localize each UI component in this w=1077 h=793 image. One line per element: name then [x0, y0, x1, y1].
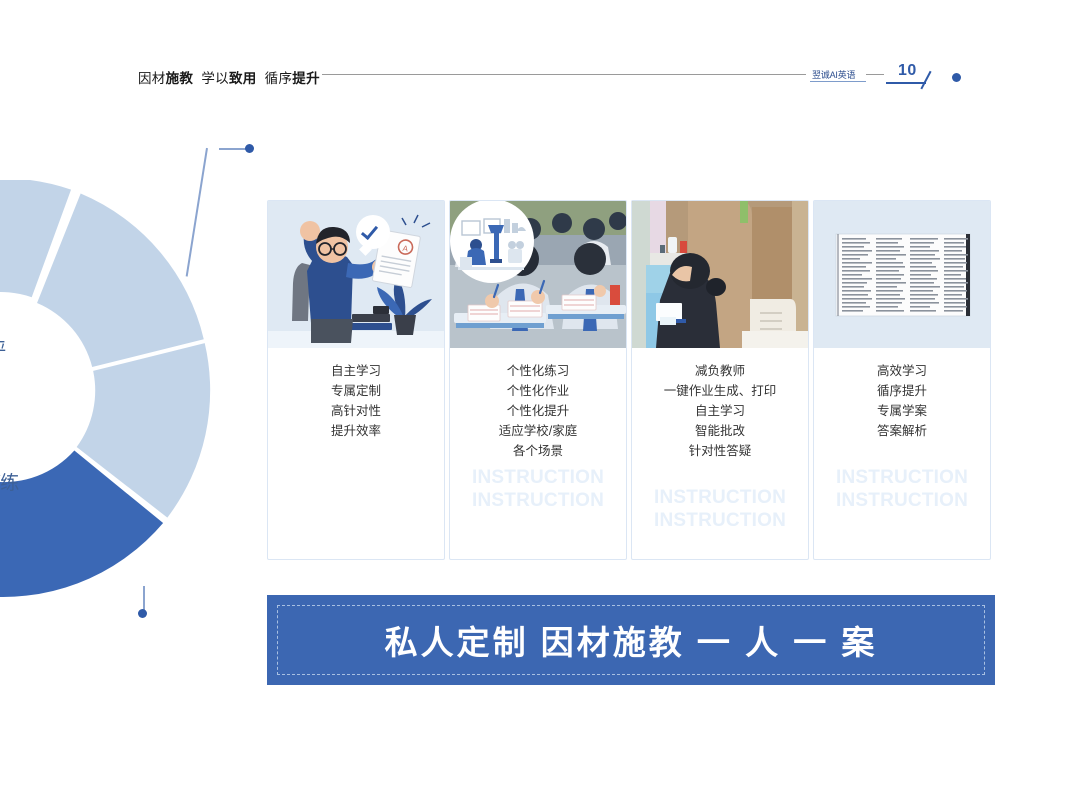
donut-label-xuelian: 学/练 — [0, 468, 19, 495]
fist-left — [300, 221, 320, 241]
donut-svg — [0, 180, 230, 600]
card-line: 适应学校/家庭 — [450, 421, 626, 441]
header-brand-label: 翌诚AI英语 — [812, 68, 855, 81]
student-study-booth-photo — [632, 201, 808, 348]
watermark-text: INSTRUCTION — [814, 489, 990, 512]
header-tagline-part-2: 施教 — [166, 71, 194, 86]
card-text-block: 自主学习 专属定制 高针对性 提升效率 — [268, 361, 444, 441]
feature-card[interactable]: A — [267, 200, 445, 560]
card-line: 针对性答疑 — [632, 441, 808, 461]
card-line: 个性化作业 — [450, 381, 626, 401]
card-line: 各个场景 — [450, 441, 626, 461]
home-study-inset-illustration — [450, 201, 534, 283]
feature-card[interactable]: 减负教师 一键作业生成、打印 自主学习 智能批改 针对性答疑 INSTRUCTI… — [631, 200, 809, 560]
card-line: 自主学习 — [632, 401, 808, 421]
feature-card[interactable]: 个性化练习 个性化作业 个性化提升 适应学校/家庭 各个场景 INSTRUCTI… — [449, 200, 627, 560]
header-tagline-part-5: 循序 — [265, 71, 293, 86]
legs — [311, 319, 353, 343]
card-line: 循序提升 — [814, 381, 990, 401]
watermark-text: INSTRUCTION — [450, 489, 626, 512]
header-divider-line-short — [866, 74, 884, 75]
donut-segments — [0, 180, 230, 600]
card-line: 专属定制 — [268, 381, 444, 401]
header-divider-line — [322, 74, 806, 75]
card-line: 减负教师 — [632, 361, 808, 381]
check-icon — [361, 222, 378, 240]
classroom-students-writing-photo — [450, 201, 626, 348]
torso — [307, 253, 353, 323]
process-donut-chart: 测 评 学/练 辅 — [0, 180, 230, 600]
feature-card[interactable]: 高效学习 循序提升 专属学案 答案解析 INSTRUCTION INSTRUCT… — [813, 200, 991, 560]
slogan-banner: 私人定制 因材施教 一 人 一 案 — [267, 595, 995, 685]
watermark-text: INSTRUCTION — [450, 466, 626, 489]
slide-header: 因材施教 学以致用 循序提升 翌诚AI英语 10 — [0, 60, 1077, 100]
card-line: 专属学案 — [814, 401, 990, 421]
header-tagline-part-1: 因材 — [138, 71, 166, 86]
header-tagline-part-6: 提升 — [292, 71, 320, 86]
card-line: 智能批改 — [632, 421, 808, 441]
watermark-text: INSTRUCTION — [814, 466, 990, 489]
illustration-svg: A — [268, 201, 444, 348]
page-number: 10 — [898, 62, 917, 80]
photo-svg — [814, 201, 990, 348]
card-line: 个性化练习 — [450, 361, 626, 381]
header-tagline: 因材施教 学以致用 循序提升 — [138, 67, 320, 87]
student-head-2 — [574, 243, 606, 275]
pen — [676, 319, 686, 323]
worksheet-document-photo — [814, 201, 990, 348]
banner-slogan-text: 私人定制 因材施教 一 人 一 案 — [267, 595, 995, 685]
hair-bun — [706, 278, 726, 296]
red-object — [610, 285, 620, 305]
check-bubble-icon — [356, 215, 390, 249]
header-dot-icon — [952, 73, 961, 82]
card-line: 一键作业生成、打印 — [632, 381, 808, 401]
photo-svg — [632, 201, 808, 348]
card-line: 高针对性 — [268, 401, 444, 421]
card-line: 个性化提升 — [450, 401, 626, 421]
card-text-block: 高效学习 循序提升 专属学案 答案解析 — [814, 361, 990, 441]
header-brand-underline — [810, 81, 866, 82]
page-number-underline — [886, 82, 926, 84]
card-line: 答案解析 — [814, 421, 990, 441]
connector-bottom-dot-icon — [138, 609, 147, 618]
watermark-text: INSTRUCTION — [632, 509, 808, 532]
donut-label-ping: 评 — [0, 335, 6, 362]
photo-svg — [450, 201, 626, 348]
feature-card-list: A — [267, 200, 995, 560]
card-line: 高效学习 — [814, 361, 990, 381]
header-tagline-part-4: 致用 — [229, 71, 257, 86]
card-line: 自主学习 — [268, 361, 444, 381]
slash-icon — [920, 71, 931, 89]
connector-top-dot-icon — [245, 144, 254, 153]
watermark-text: INSTRUCTION — [632, 486, 808, 509]
card-line: 提升效率 — [268, 421, 444, 441]
slide-page: 因材施教 学以致用 循序提升 翌诚AI英语 10 测 评 学/练 — [0, 0, 1077, 793]
card-text-block: 个性化练习 个性化作业 个性化提升 适应学校/家庭 各个场景 — [450, 361, 626, 461]
connector-top-horizontal — [219, 148, 247, 150]
student-celebrating-illustration: A — [268, 201, 444, 348]
card-text-block: 减负教师 一键作业生成、打印 自主学习 智能批改 针对性答疑 — [632, 361, 808, 461]
header-tagline-part-3: 学以 — [201, 71, 229, 86]
